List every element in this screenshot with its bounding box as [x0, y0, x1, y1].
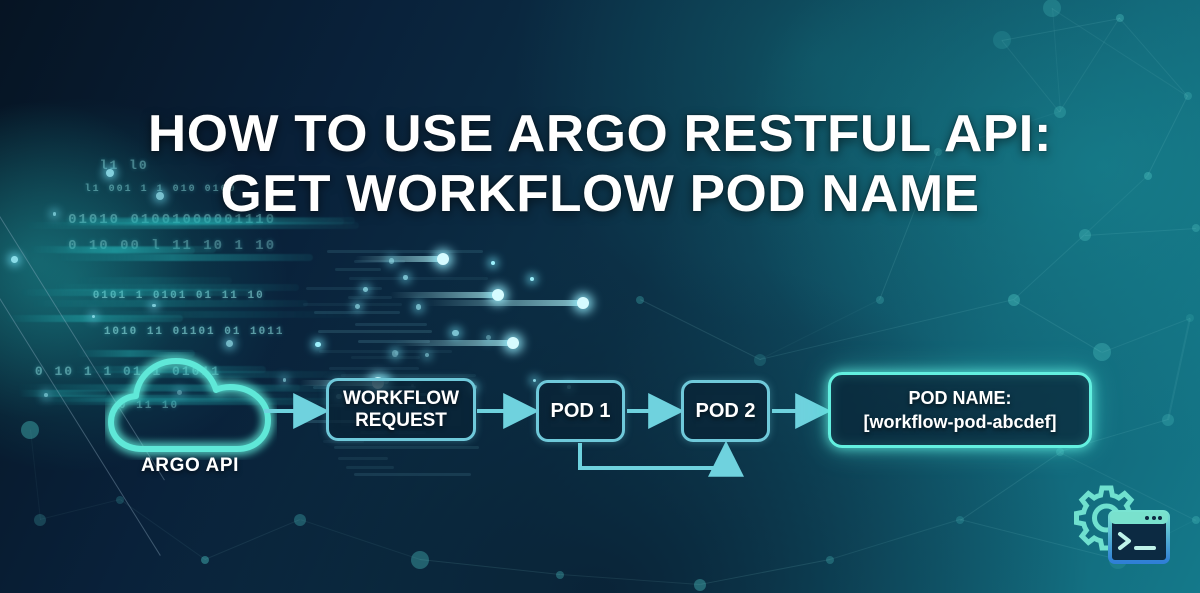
node-pod-name-line1: POD NAME:: [864, 386, 1057, 410]
hero-banner: l1 l0l1 001 1 1 010 016001010 0100100000…: [0, 0, 1200, 593]
node-workflow-request-line1: WORKFLOW: [343, 388, 459, 410]
node-pod-2[interactable]: POD 2: [681, 380, 770, 442]
node-pod-2-label: POD 2: [695, 400, 755, 423]
node-pod-name-result[interactable]: POD NAME: [workflow-pod-abcdef]: [828, 372, 1092, 448]
node-workflow-request[interactable]: WORKFLOW REQUEST: [326, 378, 476, 441]
node-pod-1[interactable]: POD 1: [536, 380, 625, 442]
node-pod-name-line2: [workflow-pod-abcdef]: [864, 410, 1057, 434]
diagram-connectors: [0, 0, 1200, 593]
connector-feedback-loop: [580, 443, 726, 468]
node-pod-1-label: POD 1: [550, 400, 610, 423]
flow-diagram: ARGO API WORKFLOW REQUEST: [0, 0, 1200, 593]
node-workflow-request-line2: REQUEST: [343, 410, 459, 432]
